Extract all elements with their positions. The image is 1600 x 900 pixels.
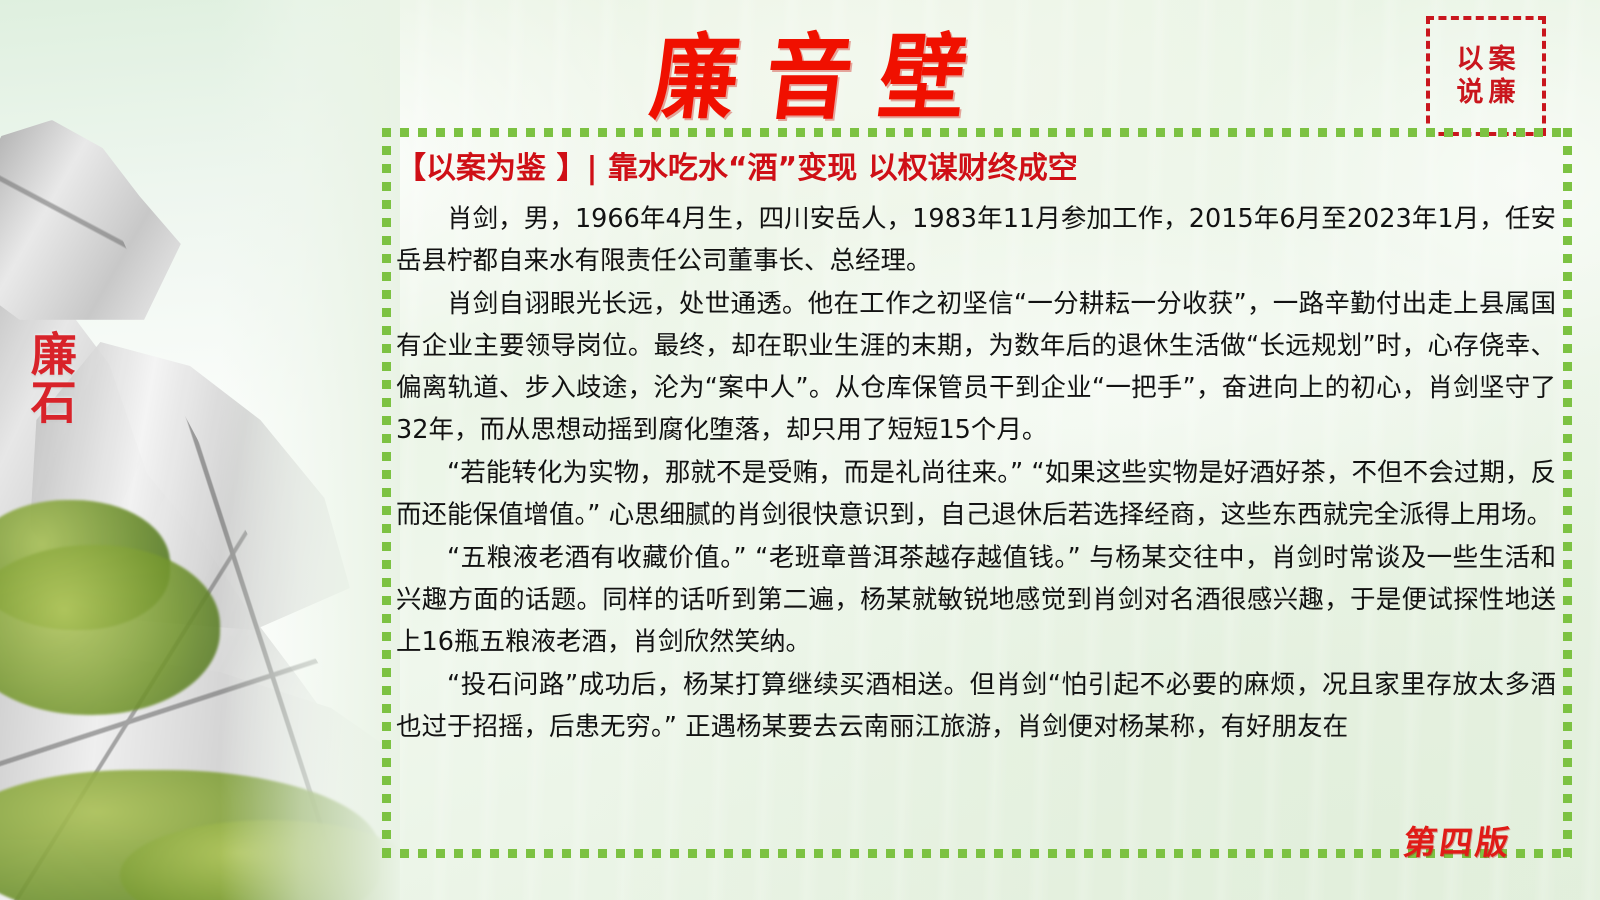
article-body: 【以案为鉴 】| 靠水吃水“酒”变现 以权谋财终成空 肖剑，男，1966年4月生… bbox=[396, 150, 1556, 840]
column-seal-badge: 以案 说廉 bbox=[1426, 16, 1546, 136]
masthead: 廉音壁 bbox=[560, 10, 1060, 128]
article-paragraph: “投石问路”成功后，杨某打算继续买酒相送。但肖剑“怕引起不必要的麻烦，况且家里存… bbox=[396, 664, 1556, 748]
masthead-title: 廉音壁 bbox=[617, 1, 1004, 136]
article-headline: 【以案为鉴 】| 靠水吃水“酒”变现 以权谋财终成空 bbox=[396, 150, 1556, 188]
seal-line-1: 以案 bbox=[1452, 46, 1521, 73]
newspaper-page: 廉石 廉音壁 以案 说廉 【以案为鉴 】| 靠水吃水“酒”变现 以权谋财终成空 … bbox=[0, 0, 1600, 900]
seal-line-2: 说廉 bbox=[1452, 79, 1521, 106]
article-paragraph: “若能转化为实物，那就不是受贿，而是礼尚往来。” “如果这些实物是好酒好茶，不但… bbox=[396, 452, 1556, 536]
article-paragraph: 肖剑自诩眼光长远，处世通透。他在工作之初坚信“一分耕耘一分收获”，一路辛勤付出走… bbox=[396, 283, 1556, 451]
rock-photo-caption: 廉石 bbox=[26, 330, 75, 426]
article-paragraph: “五粮液老酒有收藏价值。” “老班章普洱茶越存越值钱。” 与杨某交往中，肖剑时常… bbox=[396, 537, 1556, 663]
page-number-stamp: 第四版 bbox=[1401, 816, 1516, 864]
photo-fade-mask bbox=[220, 0, 400, 900]
rock-photo: 廉石 bbox=[0, 0, 400, 900]
article-paragraph: 肖剑，男，1966年4月生，四川安岳人，1983年11月参加工作，2015年6月… bbox=[396, 198, 1556, 282]
